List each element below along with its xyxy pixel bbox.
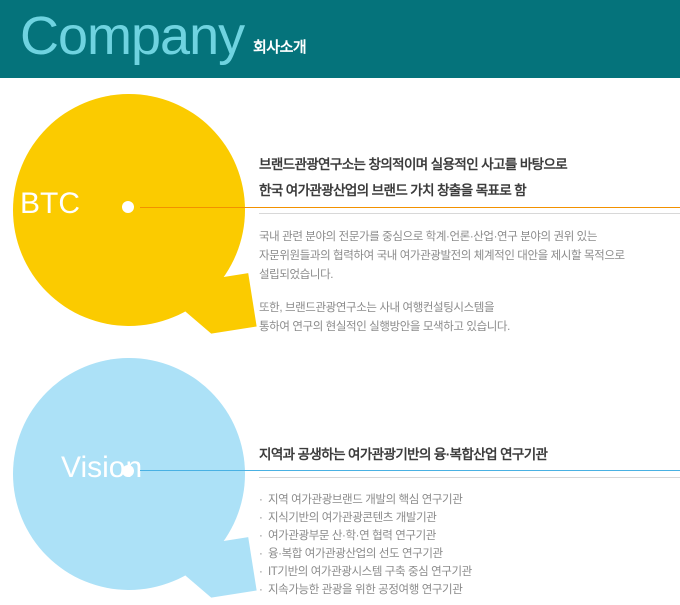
speech-bubble-btc: BTC: [13, 94, 245, 326]
section-vision: 지역과 공생하는 여가관광기반의 융·복합산업 연구기관 지역 여가관광브랜드 …: [259, 442, 680, 599]
lead-line: 지역과 공생하는 여가관광기반의 융·복합산업 연구기관: [259, 442, 680, 468]
list-item: 융·복합 여가관광산업의 선도 연구기관: [259, 545, 680, 563]
speech-bubble-vision: Vision: [13, 358, 245, 590]
list-item: 지역 여가관광브랜드 개발의 핵심 연구기관: [259, 491, 680, 509]
list-item: 여가관광부문 산·학·연 협력 연구기관: [259, 527, 680, 545]
bubble-dot-vision: [122, 465, 134, 477]
bubble-label-btc: BTC: [20, 187, 80, 221]
section-btc-paragraph-1: 국내 관련 분야의 전문가를 중심으로 학계·언론·산업·연구 분야의 권위 있…: [259, 228, 680, 285]
page-header: Company 회사소개: [0, 0, 680, 78]
section-btc: 브랜드관광연구소는 창의적이며 실용적인 사고를 바탕으로 한국 여가관광산업의…: [259, 152, 680, 337]
section-vision-lead: 지역과 공생하는 여가관광기반의 융·복합산업 연구기관: [259, 442, 680, 468]
bubble-dot-btc: [122, 201, 134, 213]
page-title: Company: [20, 2, 244, 70]
body-line: 또한, 브랜드관광연구소는 사내 여행컨설팅시스템을: [259, 299, 680, 318]
lead-line: 브랜드관광연구소는 창의적이며 실용적인 사고를 바탕으로: [259, 152, 680, 178]
body-line: 통하여 연구의 현실적인 실행방안을 모색하고 있습니다.: [259, 318, 680, 337]
section-btc-divider: [259, 213, 680, 214]
section-vision-divider: [259, 477, 680, 478]
body-line: 국내 관련 분야의 전문가를 중심으로 학계·언론·산업·연구 분야의 권위 있…: [259, 228, 680, 247]
page-subtitle: 회사소개: [253, 36, 306, 57]
section-btc-lead: 브랜드관광연구소는 창의적이며 실용적인 사고를 바탕으로 한국 여가관광산업의…: [259, 152, 680, 204]
list-item: 지속가능한 관광을 위한 공정여행 연구기관: [259, 581, 680, 599]
section-btc-paragraph-2: 또한, 브랜드관광연구소는 사내 여행컨설팅시스템을 통하여 연구의 현실적인 …: [259, 299, 680, 337]
vision-bullet-list: 지역 여가관광브랜드 개발의 핵심 연구기관 지식기반의 여가관광콘텐츠 개발기…: [259, 491, 680, 599]
body-line: 자문위원들과의 협력하여 국내 여가관광발전의 체계적인 대안을 제시할 목적으…: [259, 247, 680, 266]
list-item: IT기반의 여가관광시스템 구축 중심 연구기관: [259, 563, 680, 581]
list-item: 지식기반의 여가관광콘텐츠 개발기관: [259, 509, 680, 527]
lead-line: 한국 여가관광산업의 브랜드 가치 창출을 목표로 함: [259, 178, 680, 204]
body-line: 설립되었습니다.: [259, 266, 680, 285]
